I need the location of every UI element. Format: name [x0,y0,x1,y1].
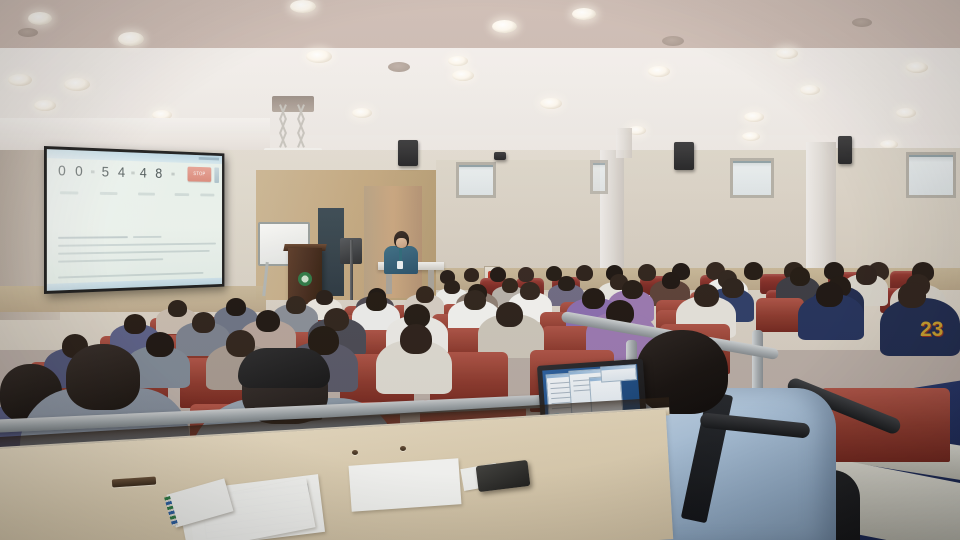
wall-speaker-3 [838,136,852,164]
downlight-icon [776,48,798,59]
desk-hole [400,446,406,451]
attendee-head [790,267,810,286]
attendee-head [638,264,656,281]
attendee-head [518,267,534,282]
downlight-icon [18,28,38,37]
downlight-icon [118,32,144,46]
attendee-head [286,296,306,314]
downlight-icon [662,36,684,46]
wall-window-3 [906,152,956,198]
lanyard [399,248,402,262]
wall-speaker-1 [398,140,418,166]
laptop-window-top[interactable] [600,364,637,382]
downlight-icon [352,108,372,118]
lecture-hall-photo: 0 0 5 4 4 8 STOP [0,0,960,540]
attendee-head [444,280,460,294]
attendee-head [558,276,575,291]
downlight-icon [290,0,316,13]
downlight-icon [448,56,468,66]
downlight-icon [540,98,562,109]
wall-window-1 [456,162,496,198]
wall-panel-box [494,152,506,160]
downlight-icon [388,62,410,72]
attendee-head [502,278,518,293]
downlight-icon [306,50,332,63]
attendee-head [576,265,593,281]
attendee-head [662,272,680,289]
downlight-icon [852,18,872,27]
attendee-head-left [66,344,140,410]
attendee-head [520,282,540,300]
blank-paper[interactable] [349,458,462,512]
wall-speaker-2 [674,142,694,170]
downlight-icon [452,70,474,81]
downlight-icon [8,74,32,86]
downlight-icon [742,132,760,141]
wall-window-4 [590,160,608,194]
jersey-number: 23 [920,318,954,342]
pillar-cap [616,128,632,158]
downlight-icon [906,62,928,73]
attendee-head [124,314,146,334]
attendee-head [168,300,187,317]
attendee-head [416,286,434,303]
attendee-head [316,290,333,305]
attendee-head [366,292,387,311]
downlight-icon [896,108,916,118]
downlight-icon [64,78,90,91]
downlight-icon [744,112,764,122]
attendee-head [400,324,432,354]
attendee-head [722,278,744,298]
downlight-icon [34,100,56,111]
attendee-head [694,284,719,307]
attendee-head [464,290,486,310]
downlight-icon [28,12,52,25]
attendee-head [622,280,643,299]
attendee-head [146,332,174,357]
attendee-head [582,288,605,309]
attendee-head [464,268,479,282]
attendee-head [856,265,877,285]
downlight-icon [648,66,670,77]
attendee-head [256,310,280,332]
wall-window-2 [730,158,774,198]
lecturer-face [396,238,407,248]
ceiling-soffit [0,118,270,154]
attendee-head [898,282,926,308]
attendee-head [816,282,843,307]
desk-hole [352,450,358,455]
attendee-head [226,298,246,316]
attendee-head [192,312,215,333]
downlight-icon [800,85,820,95]
window-titlebar [601,365,635,370]
downlight-icon [492,20,517,33]
beanie-hat [238,348,330,388]
seat[interactable] [756,298,804,332]
downlight-icon [572,8,596,20]
attendee-head [496,302,523,327]
attendee-head [744,262,763,280]
